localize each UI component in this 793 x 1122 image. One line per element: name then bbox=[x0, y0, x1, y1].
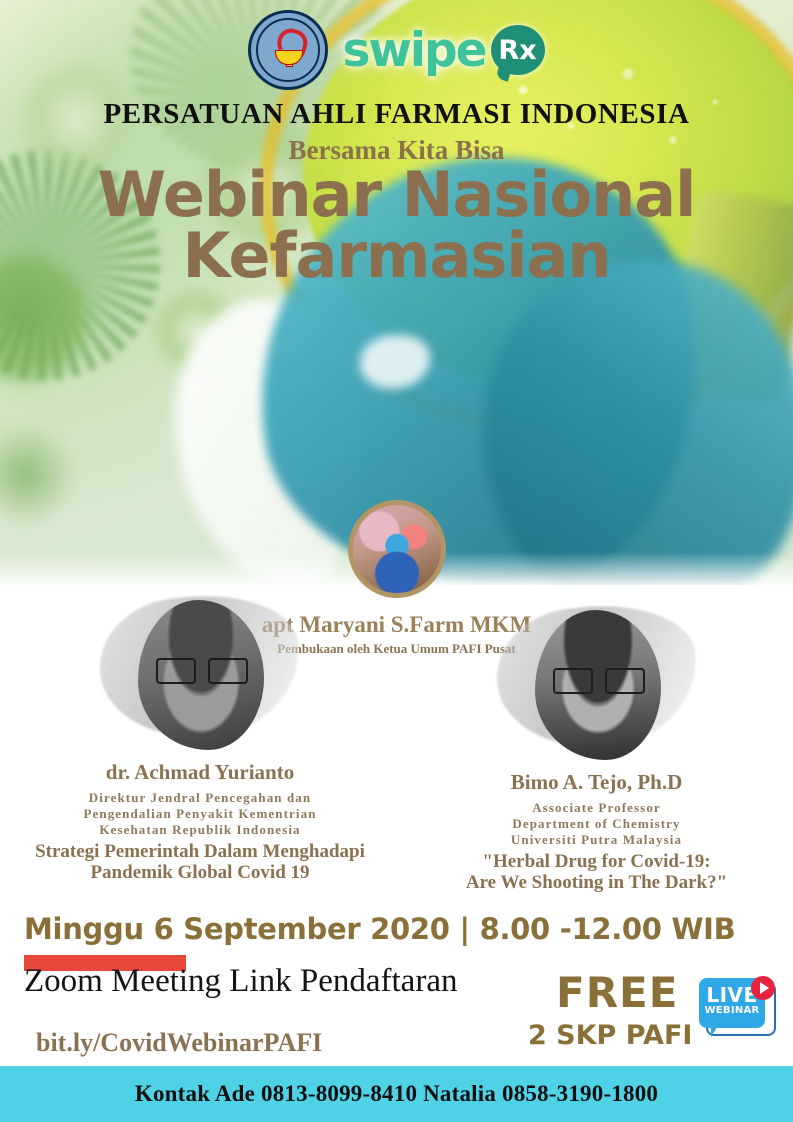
pafi-logo-icon bbox=[248, 10, 328, 90]
speaker-topic: "Herbal Drug for Covid-19: Are We Shooti… bbox=[400, 851, 793, 894]
speaker-card-right: Bimo A. Tejo, Ph.D Associate Professor D… bbox=[400, 596, 793, 893]
webinar-label: WEBINAR bbox=[699, 1005, 765, 1016]
bowl-cup bbox=[275, 50, 303, 65]
credits-label: 2 SKP PAFI bbox=[528, 1020, 692, 1051]
contact-footer: Kontak Ade 0813-8099-8410 Natalia 0858-3… bbox=[0, 1066, 793, 1122]
topic-line: "Herbal Drug for Covid-19: bbox=[400, 851, 793, 872]
eyeglasses-icon bbox=[156, 658, 248, 680]
organization-name: PERSATUAN AHLI FARMASI INDONESIA bbox=[0, 98, 793, 131]
speaker-name: dr. Achmad Yurianto bbox=[0, 760, 400, 785]
event-datetime: Minggu 6 September 2020 | 8.00 -12.00 WI… bbox=[24, 912, 735, 946]
logo-row: swipe Rx bbox=[0, 8, 793, 92]
live-webinar-badge: LIVE WEBINAR bbox=[697, 978, 775, 1040]
speaker-affiliation: Direktur Jendral Pencegahan dan Pengenda… bbox=[0, 790, 400, 838]
topic-line: Pandemik Global Covid 19 bbox=[0, 862, 400, 883]
speaker-topic: Strategi Pemerintah Dalam Menghadapi Pan… bbox=[0, 841, 400, 884]
contact-text: Kontak Ade 0813-8099-8410 Natalia 0858-3… bbox=[135, 1081, 658, 1107]
rx-label: Rx bbox=[498, 37, 536, 64]
swipe-wordmark: swipe bbox=[342, 27, 485, 74]
rx-bubble-icon: Rx bbox=[491, 25, 545, 75]
speaker-portrait bbox=[138, 600, 264, 750]
platform-line: Zoom Meeting Link Pendaftaran bbox=[24, 963, 457, 1000]
topic-line: Are We Shooting in The Dark?" bbox=[400, 872, 793, 893]
affiliation-line: Direktur Jendral Pencegahan dan bbox=[0, 790, 400, 806]
host-avatar bbox=[348, 500, 446, 598]
title-line-2: Kefarmasian bbox=[0, 226, 793, 287]
webinar-poster: swipe Rx PERSATUAN AHLI FARMASI INDONESI… bbox=[0, 0, 793, 1122]
swiperx-logo: swipe Rx bbox=[342, 25, 544, 75]
affiliation-line: Kesehatan Republik Indonesia bbox=[0, 822, 400, 838]
topic-line: Strategi Pemerintah Dalam Menghadapi bbox=[0, 841, 400, 862]
price-label: FREE bbox=[556, 968, 678, 1017]
affiliation-line: Associate Professor bbox=[400, 800, 793, 816]
speaker-portrait bbox=[535, 610, 661, 760]
bowl-of-hygieia-icon bbox=[271, 33, 305, 67]
speaker-photo-left bbox=[100, 586, 300, 756]
registration-link[interactable]: bit.ly/CovidWebinarPAFI bbox=[36, 1028, 322, 1058]
eyeglasses-icon bbox=[553, 668, 645, 690]
page-title: Webinar Nasional Kefarmasian bbox=[0, 165, 793, 287]
speaker-name: Bimo A. Tejo, Ph.D bbox=[400, 770, 793, 795]
play-triangle bbox=[760, 982, 769, 994]
play-button-icon bbox=[751, 976, 775, 1000]
speaker-affiliation: Associate Professor Department of Chemis… bbox=[400, 800, 793, 848]
affiliation-line: Department of Chemistry bbox=[400, 816, 793, 832]
speaker-card-left: dr. Achmad Yurianto Direktur Jendral Pen… bbox=[0, 586, 400, 883]
affiliation-line: Universiti Putra Malaysia bbox=[400, 832, 793, 848]
affiliation-line: Pengendalian Penyakit Kementrian bbox=[0, 806, 400, 822]
speaker-photo-right bbox=[497, 596, 697, 766]
speech-bubble-tail-icon bbox=[711, 1024, 719, 1037]
